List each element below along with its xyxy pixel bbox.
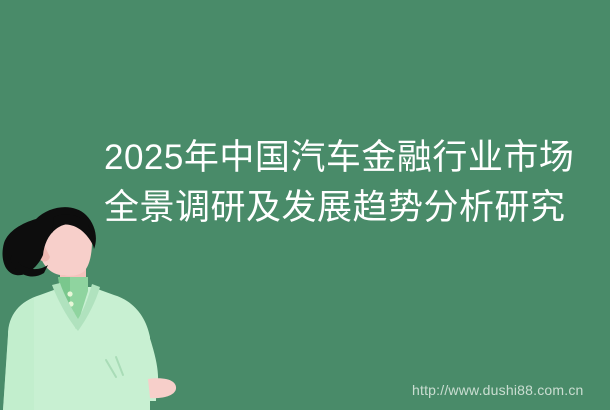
- shirt-shadow: [3, 298, 34, 410]
- page-title: 2025年中国汽车金融行业市场 全景调研及发展趋势分析研究: [104, 133, 534, 233]
- promo-banner: 2025年中国汽车金融行业市场 全景调研及发展趋势分析研究 http://www…: [0, 0, 610, 410]
- collar-button-1: [67, 291, 72, 296]
- person-illustration: [0, 205, 200, 410]
- title-line-2: 全景调研及发展趋势分析研究: [104, 183, 534, 233]
- watermark-url: http://www.dushi88.com.cn: [412, 381, 584, 399]
- title-line-1: 2025年中国汽车金融行业市场: [104, 133, 534, 183]
- hand: [148, 378, 176, 398]
